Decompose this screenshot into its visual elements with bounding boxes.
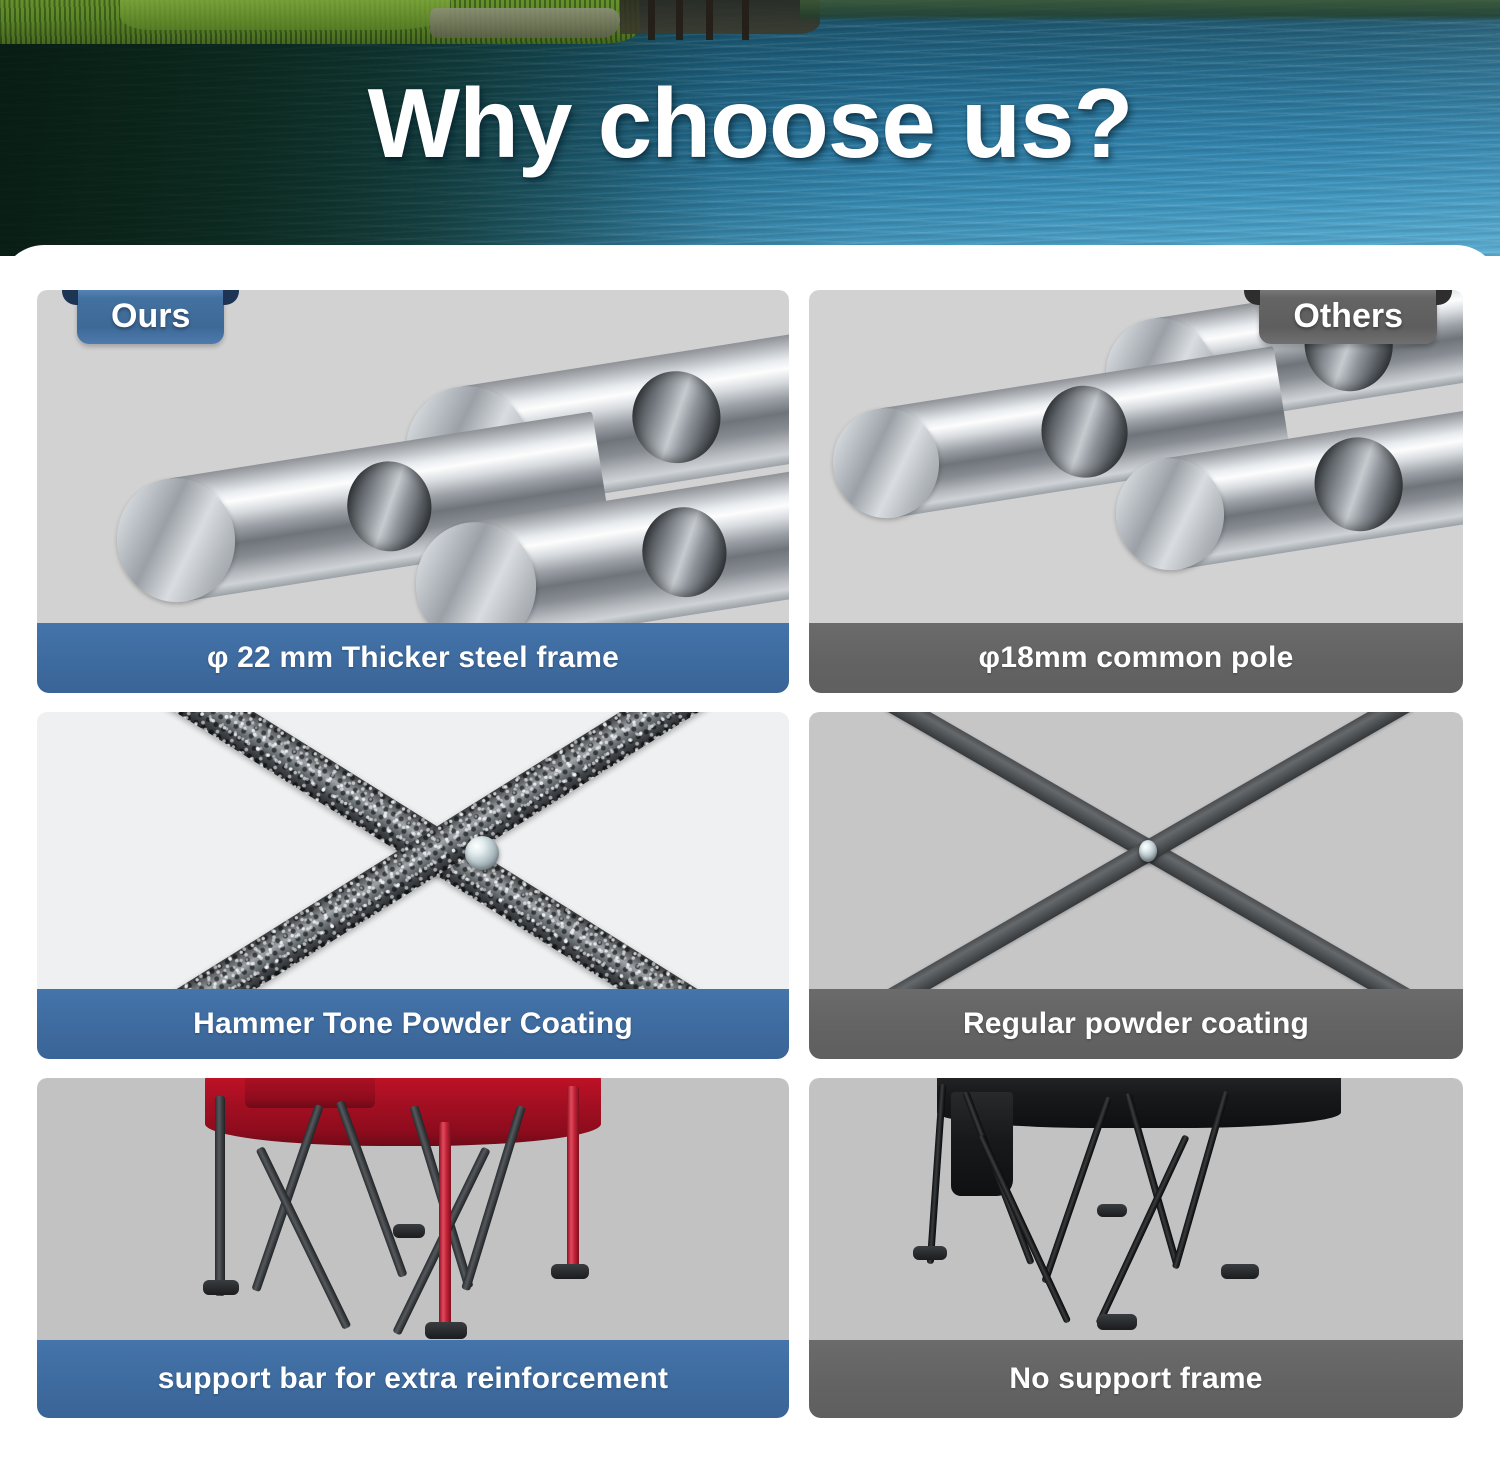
rivet bbox=[1139, 840, 1157, 862]
others-caption-row-1: φ18mm common pole bbox=[809, 623, 1463, 693]
ours-hammer-tone-photo bbox=[37, 712, 789, 989]
support-bar-red bbox=[439, 1122, 451, 1328]
comparison-row-3: support bar for extra reinforcement bbox=[37, 1078, 1463, 1418]
chair-foot bbox=[425, 1322, 467, 1339]
chair-armrest-pocket bbox=[245, 1078, 375, 1108]
ours-panel-frame: φ 22 mm Thicker steel frame Ours bbox=[37, 290, 789, 693]
others-tab: Others bbox=[1259, 290, 1437, 344]
dock-post bbox=[742, 0, 749, 40]
shoreline-strip bbox=[0, 0, 1500, 48]
dock-post bbox=[706, 0, 713, 40]
dock-post bbox=[676, 0, 683, 40]
chair-leg-cross bbox=[978, 1134, 1071, 1324]
hero-banner: Why choose us? bbox=[0, 0, 1500, 256]
chair-foot bbox=[913, 1246, 947, 1260]
red-camping-chair bbox=[37, 1078, 789, 1340]
regular-x-brace bbox=[809, 712, 1463, 989]
rivet bbox=[465, 836, 499, 870]
support-bar-red bbox=[567, 1086, 579, 1272]
chair-foot bbox=[203, 1280, 239, 1295]
ours-panel-coating: Hammer Tone Powder Coating bbox=[37, 712, 789, 1059]
chair-foot bbox=[1221, 1264, 1259, 1279]
chair-leg-vertical bbox=[927, 1084, 947, 1264]
chair-foot bbox=[1097, 1204, 1127, 1217]
ours-caption-row-3: support bar for extra reinforcement bbox=[37, 1340, 789, 1418]
brace-bar bbox=[61, 712, 789, 989]
ours-caption-row-2: Hammer Tone Powder Coating bbox=[37, 989, 789, 1059]
chair-foot bbox=[1097, 1314, 1137, 1330]
comparison-row-2: Hammer Tone Powder Coating Regular powde… bbox=[37, 712, 1463, 1059]
hammer-tone-x-brace bbox=[37, 712, 789, 989]
others-regular-coating-photo bbox=[809, 712, 1463, 989]
black-camping-chair bbox=[809, 1078, 1463, 1340]
others-panel-support: No support frame bbox=[809, 1078, 1463, 1418]
chair-leg-cross bbox=[1095, 1134, 1189, 1325]
comparison-row-1: φ 22 mm Thicker steel frame Ours bbox=[37, 290, 1463, 693]
others-caption-row-2: Regular powder coating bbox=[809, 989, 1463, 1059]
others-caption-row-3: No support frame bbox=[809, 1340, 1463, 1418]
ours-panel-support: support bar for extra reinforcement bbox=[37, 1078, 789, 1418]
comparison-grid: φ 22 mm Thicker steel frame Ours bbox=[37, 290, 1463, 1437]
shore-rocks bbox=[430, 8, 620, 38]
chair-foot bbox=[393, 1224, 425, 1238]
ours-caption-row-1: φ 22 mm Thicker steel frame bbox=[37, 623, 789, 693]
dock-post bbox=[648, 0, 655, 40]
grass-bank-highlight bbox=[120, 0, 450, 30]
page-title: Why choose us? bbox=[0, 74, 1500, 172]
others-black-chair-photo bbox=[809, 1078, 1463, 1340]
comparison-card: φ 22 mm Thicker steel frame Ours bbox=[0, 245, 1500, 1460]
others-panel-coating: Regular powder coating bbox=[809, 712, 1463, 1059]
far-shore-treeline bbox=[800, 0, 1500, 22]
chair-foot bbox=[551, 1264, 589, 1279]
ours-red-chair-photo bbox=[37, 1078, 789, 1340]
ours-tab: Ours bbox=[77, 290, 224, 344]
others-panel-frame: φ18mm common pole Others bbox=[809, 290, 1463, 693]
chair-leg-vertical bbox=[215, 1096, 225, 1296]
